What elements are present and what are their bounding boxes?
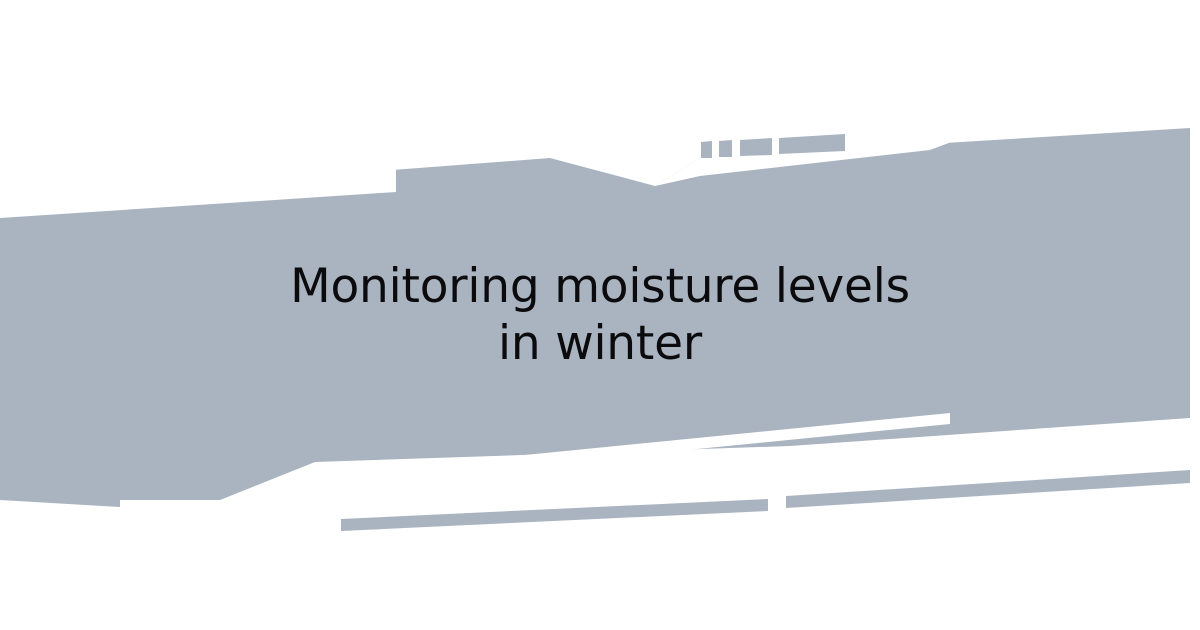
banner-canvas: Monitoring moisture levels in winter: [0, 0, 1200, 630]
top-dash-3: [740, 138, 772, 156]
top-dash-1: [701, 141, 712, 158]
top-dash-4: [779, 134, 845, 154]
top-dash-2: [719, 140, 732, 157]
banner-graphic: [0, 0, 1200, 630]
